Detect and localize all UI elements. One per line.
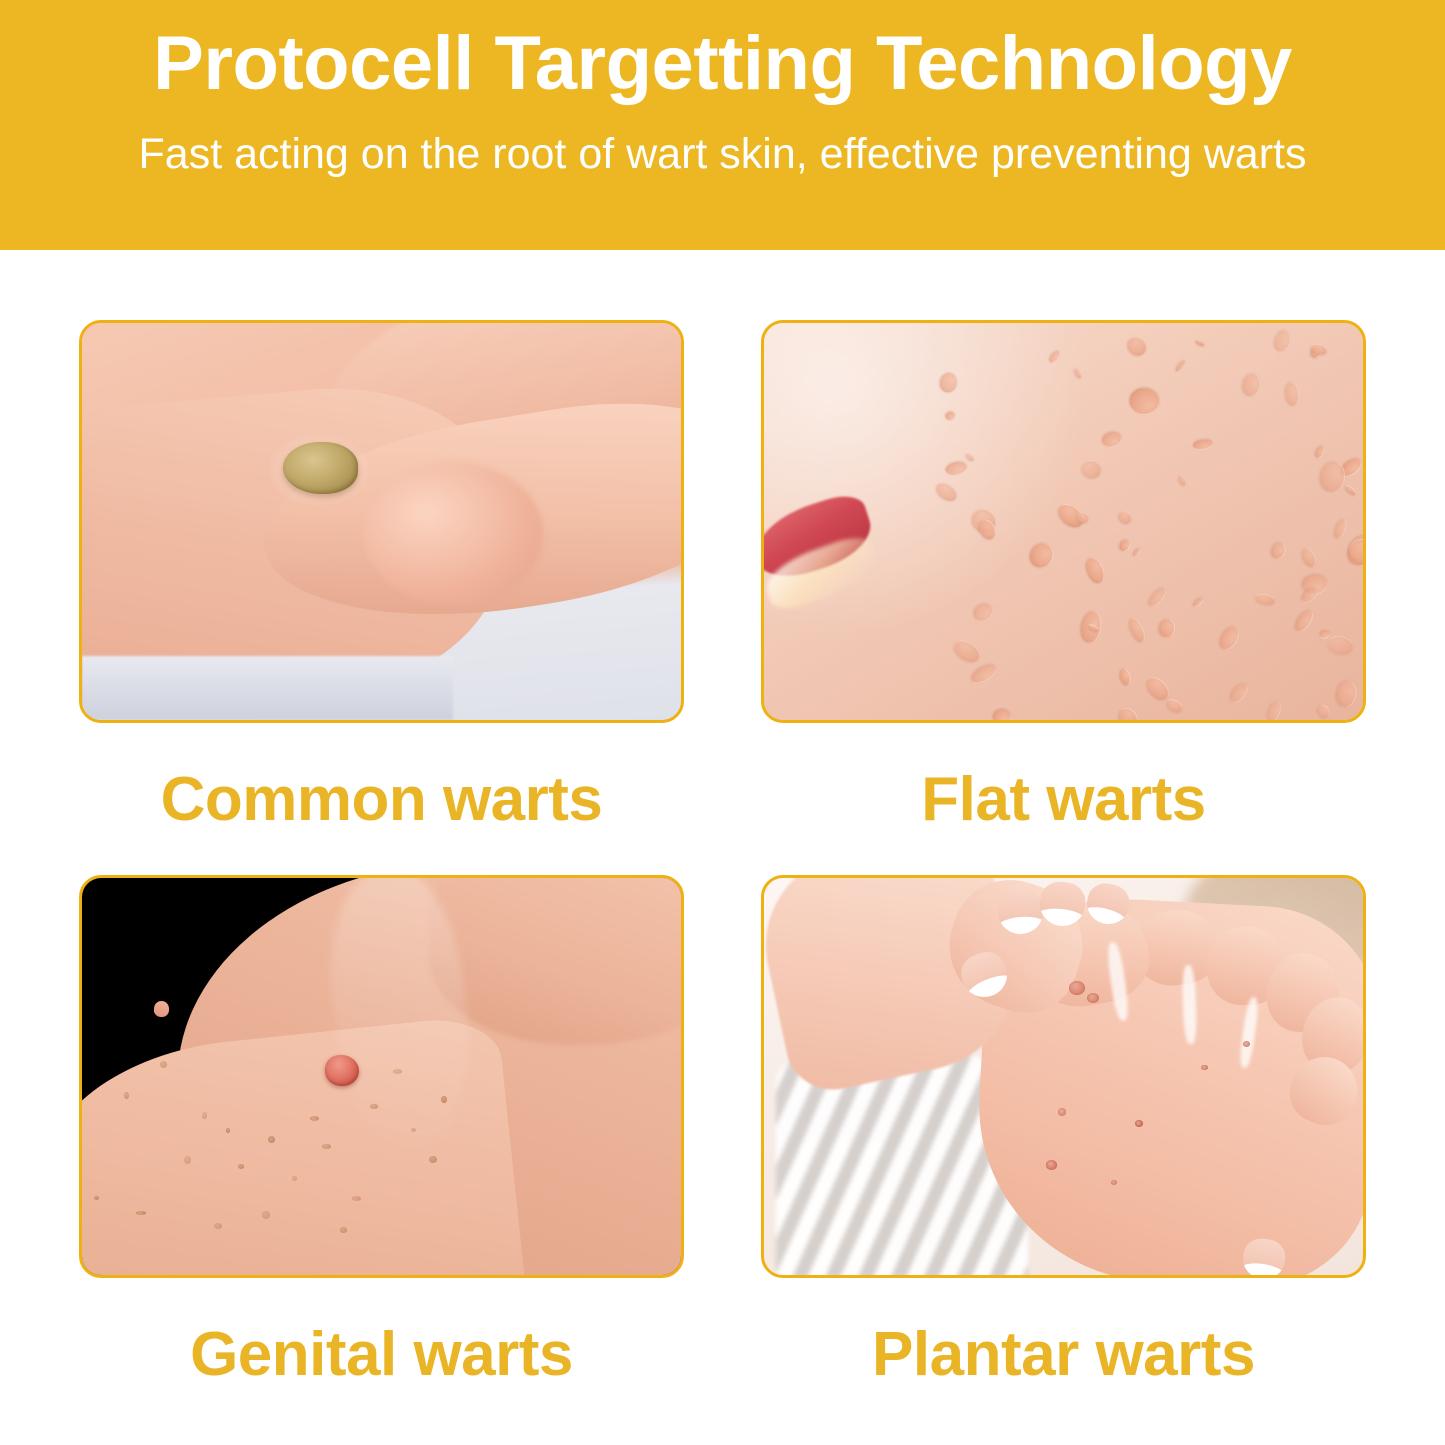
flat-wart-bump — [1080, 459, 1101, 478]
flat-wart-bump — [1332, 517, 1348, 540]
flat-wart-bump — [944, 459, 969, 478]
plantar-wart-lesions — [764, 878, 1363, 1275]
flat-wart-bump — [965, 451, 977, 462]
header-banner: Protocell Targetting Technology Fast act… — [0, 0, 1445, 250]
flat-wart-bump — [1298, 546, 1318, 569]
flat-wart-bump — [991, 707, 1013, 723]
caption-common-warts: Common warts — [79, 723, 684, 875]
skin-mole — [226, 1128, 231, 1133]
skin-mole — [310, 1116, 320, 1121]
skin-mole — [292, 1176, 298, 1181]
flat-wart-bump — [1269, 541, 1287, 562]
flat-wart-bump — [1319, 461, 1345, 493]
flat-wart-bump — [1292, 608, 1316, 635]
flat-wart-bump — [970, 599, 997, 625]
flat-wart-bump — [1283, 381, 1300, 407]
flat-wart-bump — [950, 636, 983, 665]
flat-wart-cluster — [764, 323, 1363, 720]
plantar-wart-3 — [1058, 1108, 1067, 1116]
plantar-wart-8 — [1111, 1180, 1117, 1185]
flat-wart-bump — [1314, 445, 1327, 460]
mole-cluster — [82, 878, 681, 1275]
skin-mole — [340, 1227, 348, 1233]
photo-plantar-warts — [764, 878, 1363, 1275]
flat-wart-bump — [1115, 704, 1141, 723]
flat-wart-bump — [1194, 339, 1205, 348]
skin-mole — [429, 1156, 437, 1163]
flat-wart-bump — [1255, 592, 1276, 605]
flat-wart-bump — [1127, 385, 1161, 417]
card-flat-warts[interactable] — [761, 320, 1366, 723]
flat-wart-bump — [1174, 359, 1188, 374]
flat-wart-bump — [968, 661, 999, 688]
skin-mole — [411, 1128, 416, 1132]
plantar-wart-6 — [1201, 1065, 1208, 1071]
skin-mole — [262, 1211, 271, 1219]
photo-genital-warts — [82, 878, 681, 1275]
flat-wart-bump — [1146, 586, 1169, 610]
card-common-warts[interactable] — [79, 320, 684, 723]
plantar-wart-2 — [1087, 993, 1099, 1003]
flat-wart-bump — [1343, 483, 1357, 497]
skin-mole — [136, 1211, 146, 1215]
photo-flat-warts — [764, 323, 1363, 720]
skin-mole — [238, 1164, 244, 1169]
flat-wart-bump — [1336, 680, 1358, 708]
common-wart-lesion — [283, 442, 358, 494]
skin-mole — [214, 1223, 222, 1229]
flat-wart-bump — [1241, 372, 1263, 398]
plantar-wart-4 — [1135, 1120, 1143, 1127]
flat-wart-bump — [1192, 438, 1213, 452]
photo-common-warts — [82, 323, 681, 720]
flat-wart-bump — [1048, 349, 1063, 365]
caption-genital-warts: Genital warts — [79, 1278, 684, 1430]
flat-wart-bump — [1126, 616, 1148, 645]
skin-tag — [154, 1001, 170, 1017]
flat-wart-bump — [1273, 329, 1293, 354]
skin-mole — [202, 1112, 208, 1119]
flat-wart-bump — [1177, 474, 1189, 487]
table-surface — [82, 656, 453, 720]
flat-wart-bump — [1216, 624, 1243, 654]
skin-mole — [352, 1196, 361, 1201]
skin-mole — [393, 1069, 402, 1075]
flat-wart-bump — [1027, 541, 1056, 571]
flat-wart-bump — [1100, 429, 1124, 450]
flat-wart-bump — [1118, 667, 1132, 686]
flat-wart-bump — [1191, 596, 1204, 609]
skin-mole — [160, 1061, 168, 1068]
plantar-wart-5 — [1046, 1160, 1058, 1170]
flat-wart-bump — [1124, 333, 1150, 358]
genital-wart-lesion — [325, 1055, 360, 1087]
skin-mole — [370, 1104, 378, 1109]
flat-wart-bump — [1265, 700, 1283, 723]
skin-mole — [124, 1092, 129, 1099]
flat-wart-bump — [1118, 538, 1132, 553]
flat-wart-bump — [933, 479, 960, 504]
card-genital-warts[interactable] — [79, 875, 684, 1278]
card-plantar-warts[interactable] — [761, 875, 1366, 1278]
caption-flat-warts: Flat warts — [761, 723, 1366, 875]
page-title: Protocell Targetting Technology — [153, 24, 1292, 104]
skin-mole — [441, 1096, 447, 1103]
flat-wart-bump — [1326, 634, 1354, 656]
flat-wart-bump — [939, 372, 958, 393]
skin-mole — [184, 1156, 192, 1165]
flat-wart-bump — [1158, 619, 1175, 637]
page-subtitle: Fast acting on the root of wart skin, ef… — [139, 130, 1307, 179]
flat-wart-bump — [943, 410, 956, 423]
flat-wart-bump — [1227, 681, 1251, 706]
flat-wart-bump — [1116, 508, 1134, 526]
caption-plantar-warts: Plantar warts — [761, 1278, 1366, 1430]
flat-wart-bump — [1073, 367, 1083, 379]
flat-wart-bump — [1132, 547, 1142, 558]
plantar-wart-1 — [1069, 981, 1085, 994]
flat-wart-bump — [1164, 696, 1184, 714]
flat-wart-bump — [1083, 555, 1108, 586]
skin-mole — [268, 1136, 275, 1143]
flat-wart-bump — [1316, 702, 1333, 720]
plantar-wart-7 — [1243, 1041, 1250, 1047]
skin-mole — [322, 1144, 332, 1149]
wart-type-grid: Common warts Flat warts Genital warts — [79, 320, 1366, 1430]
knuckle — [364, 462, 544, 605]
skin-mole — [94, 1196, 99, 1201]
